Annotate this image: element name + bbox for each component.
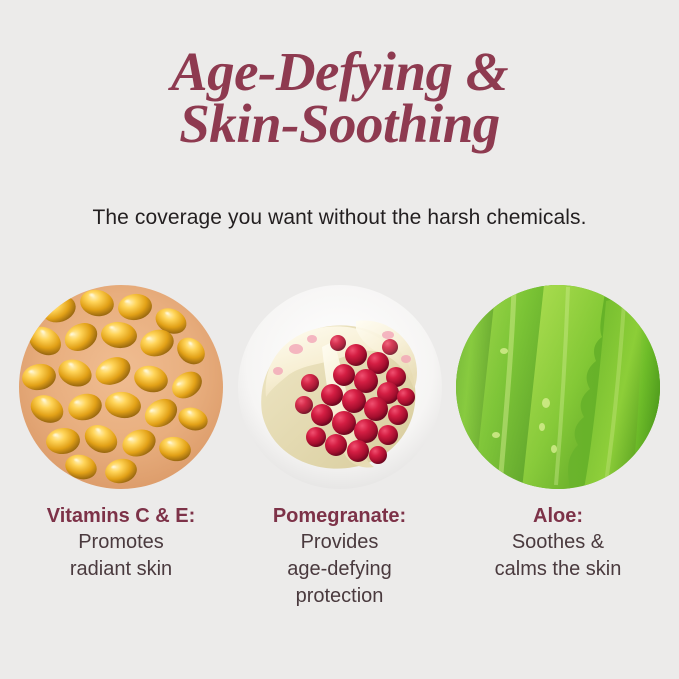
pomegranate-photo <box>238 285 442 489</box>
vitamin-capsules-photo <box>19 285 223 489</box>
ingredient-description: Promotes radiant skin <box>14 529 228 583</box>
ingredient-card-vitamins: Vitamins C & E: Promotes radiant skin <box>19 285 223 610</box>
ingredient-card-aloe: Aloe: Soothes & calms the skin <box>456 285 660 610</box>
ingredient-title: Pomegranate: <box>233 503 447 529</box>
ingredient-description: Provides age-defying protection <box>233 529 447 610</box>
ingredient-caption: Pomegranate: Provides age-defying protec… <box>233 503 447 610</box>
ingredient-card-pomegranate: Pomegranate: Provides age-defying protec… <box>238 285 442 610</box>
ingredient-columns: Vitamins C & E: Promotes radiant skin <box>0 285 679 610</box>
ingredient-infographic: Age-Defying & Skin-Soothing The coverage… <box>0 0 679 679</box>
ingredient-title: Aloe: <box>451 503 665 529</box>
page-title: Age-Defying & Skin-Soothing <box>0 46 679 150</box>
page-subtitle: The coverage you want without the harsh … <box>0 205 679 231</box>
ingredient-caption: Aloe: Soothes & calms the skin <box>451 503 665 583</box>
aloe-leaves-photo <box>456 285 660 489</box>
ingredient-caption: Vitamins C & E: Promotes radiant skin <box>14 503 228 583</box>
ingredient-description: Soothes & calms the skin <box>451 529 665 583</box>
ingredient-title: Vitamins C & E: <box>14 503 228 529</box>
